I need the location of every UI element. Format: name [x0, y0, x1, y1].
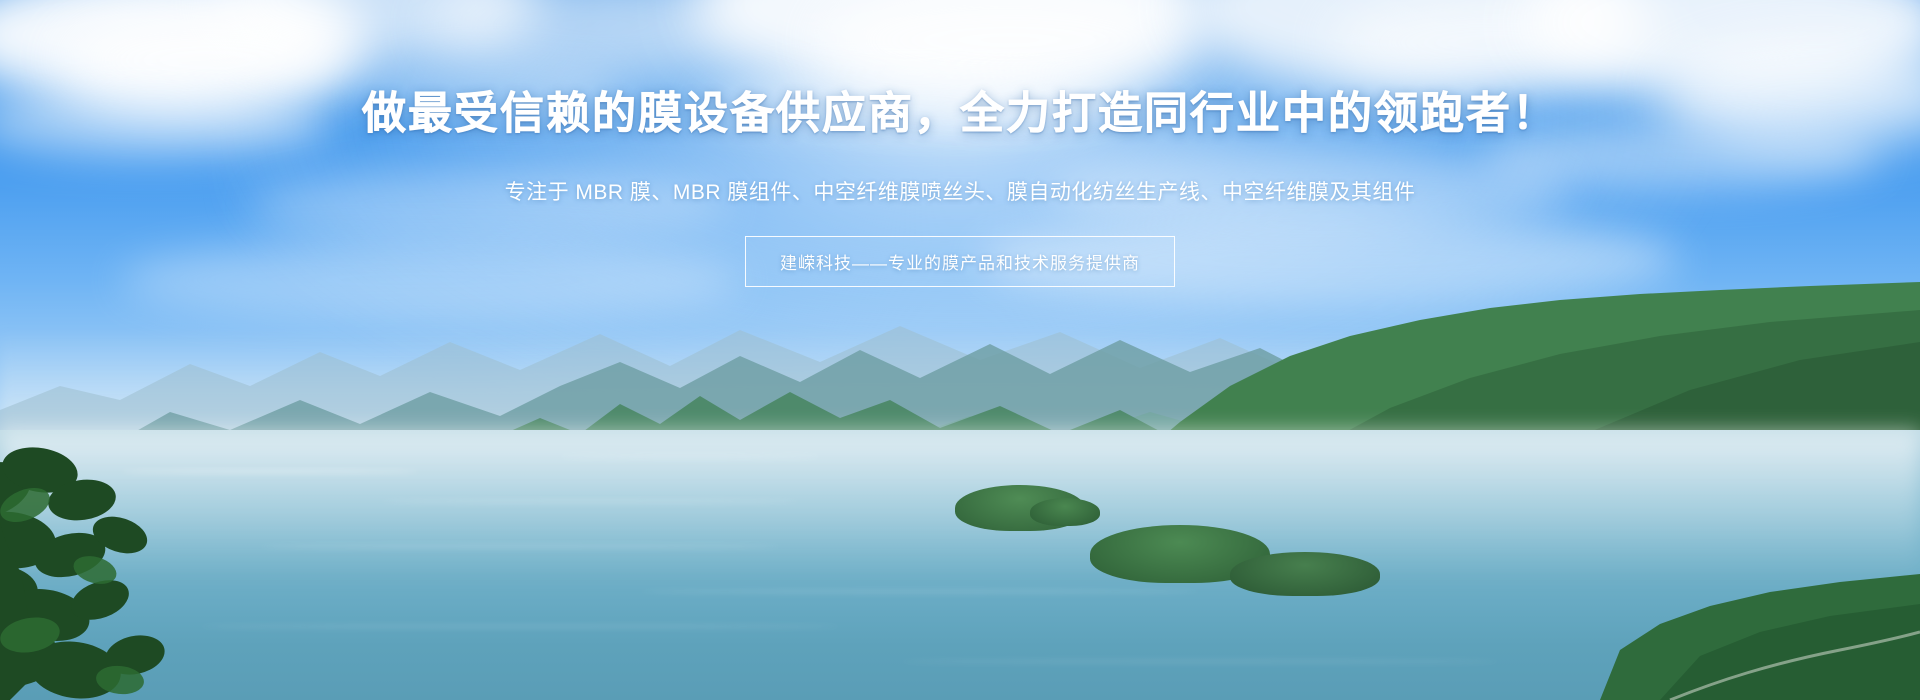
hero-banner: 做最受信赖的膜设备供应商，全力打造同行业中的领跑者！ 专注于 MBR 膜、MBR…: [0, 0, 1920, 700]
foreground-foliage-left: [0, 430, 200, 700]
foreground-foliage-right: [1600, 520, 1920, 700]
banner-subtitle: 专注于 MBR 膜、MBR 膜组件、中空纤维膜喷丝头、膜自动化纺丝生产线、中空纤…: [505, 176, 1416, 206]
banner-headline: 做最受信赖的膜设备供应商，全力打造同行业中的领跑者！: [362, 92, 1558, 136]
banner-copy: 做最受信赖的膜设备供应商，全力打造同行业中的领跑者！ 专注于 MBR 膜、MBR…: [0, 92, 1920, 287]
banner-tagline-box: 建嵘科技——专业的膜产品和技术服务提供商: [745, 236, 1175, 287]
